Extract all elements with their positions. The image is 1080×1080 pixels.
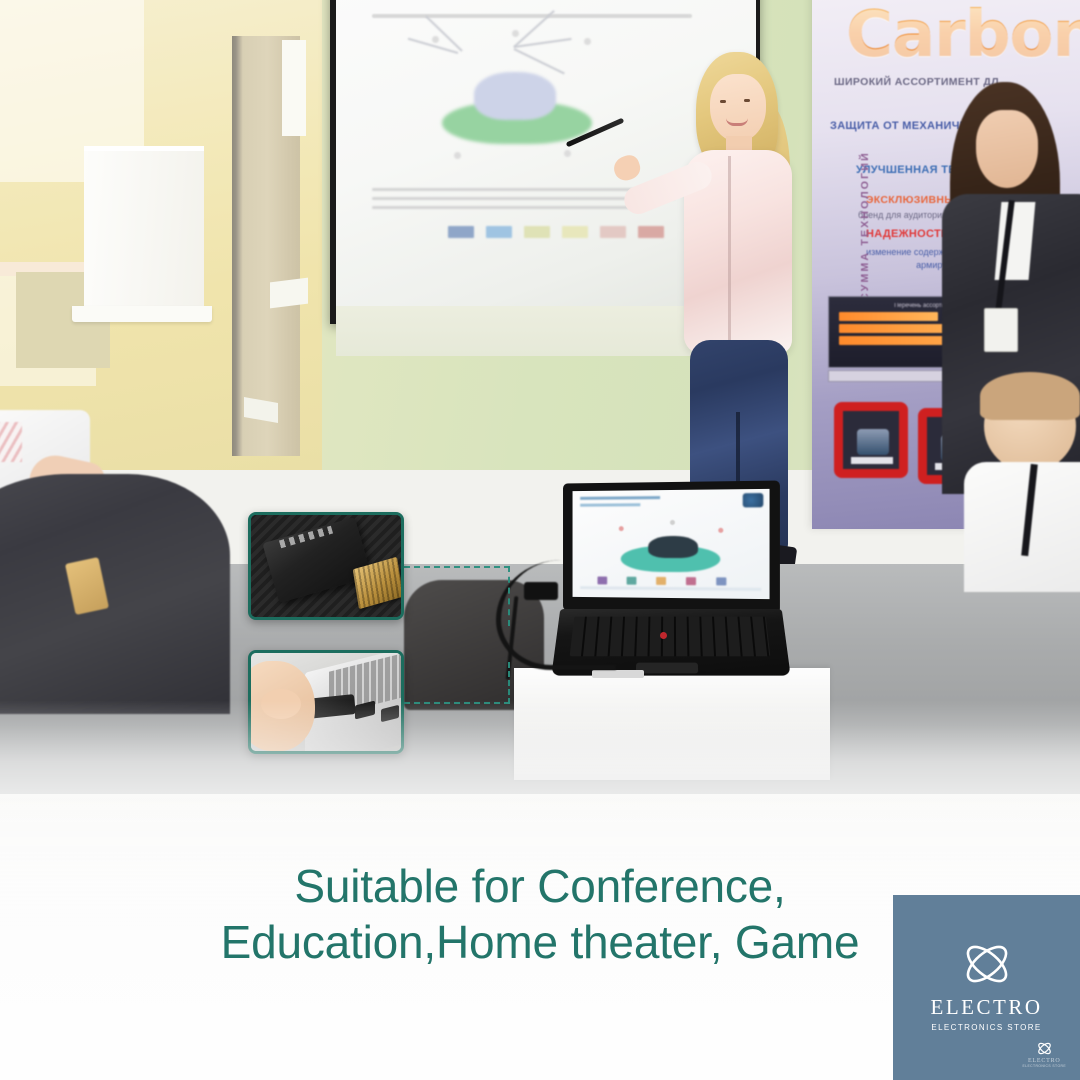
electro-atom-logo-icon-small [1036, 1041, 1053, 1056]
trackpoint-nub[interactable] [660, 632, 667, 639]
presenter-face [710, 74, 766, 142]
attendee-boy-right [968, 380, 1080, 580]
pillar-white-bracket [270, 278, 308, 309]
brand-name: ELECTRO [893, 995, 1080, 1020]
banner-bullet-3-sub: бренд для аудитории [858, 210, 947, 220]
banner-product-spool [834, 402, 908, 478]
slide-diagram-blue-shape [474, 72, 556, 120]
slide-title-bar [372, 14, 692, 18]
wall-board-ledge [72, 306, 212, 322]
laptop-slide-chips [597, 577, 726, 586]
banner-vertical-text: СУММА ТЕХНОЛОГИЙ [859, 151, 871, 301]
laptop-touchpad[interactable] [636, 663, 698, 674]
brand-watermark-panel: ELECTRO ELECTRONICS STORE ELECTRO ELECTR… [893, 895, 1080, 1080]
slide-diagram-node [432, 36, 439, 43]
callout-line-bottom-vertical [508, 662, 510, 704]
brand-tagline-small: ELECTRONICS STORE [1023, 1064, 1066, 1068]
slide-diagram-node [454, 152, 461, 159]
laptop-slide-logo [743, 493, 764, 507]
inset-hdmi-adapter-closeup [248, 512, 404, 620]
wall-mounted-board [84, 146, 204, 318]
attendee-left-foreground [0, 404, 270, 714]
product-lifestyle-image: Carbon ШИРОКИЙ АССОРТИМЕНТ ДЛ ЗАЩИТА ОТ … [0, 0, 1080, 1080]
attendee-badge [984, 308, 1018, 352]
hdmi-dongle [524, 582, 558, 600]
brand-tagline: ELECTRONICS STORE [893, 1023, 1080, 1032]
banner-bullet-4: НАДЕЖНОСТЬ [866, 228, 949, 240]
callout-line-top-vertical [508, 566, 510, 626]
electro-atom-logo-icon [959, 939, 1015, 989]
laptop-buttons[interactable] [592, 670, 644, 678]
headline-line-1: Suitable for Conference, [294, 860, 785, 912]
callout-line-top [404, 566, 510, 568]
slide-diagram-node [564, 150, 571, 157]
slide-diagram-ray [514, 48, 565, 74]
banner-title: Carbon [846, 0, 1080, 72]
slide-diagram-node [512, 30, 519, 37]
pillar-white-panel-top [282, 40, 306, 136]
slide-diagram [418, 28, 618, 178]
slide-diagram-node [584, 38, 591, 45]
brand-watermark-small: ELECTRO ELECTRONICS STORE [1023, 1041, 1066, 1068]
